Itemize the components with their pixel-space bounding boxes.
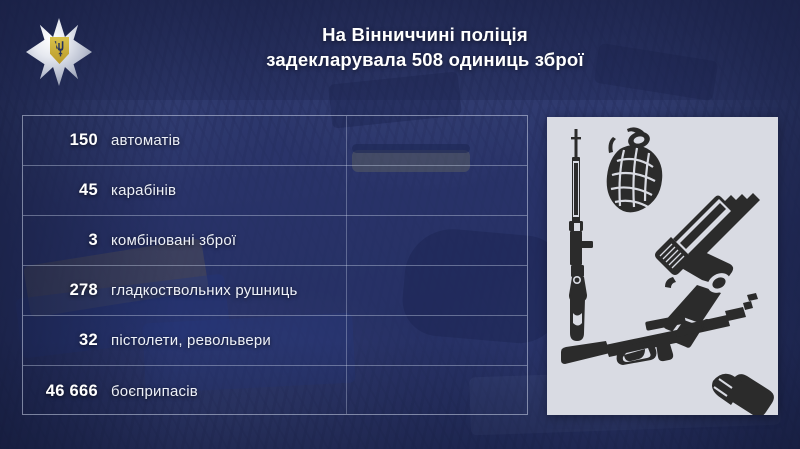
stat-value: 32 [23,331,111,350]
title-line-1: На Вінниччині поліція [160,22,690,47]
title-line-2: задекларувала 508 одиниць зброї [160,47,690,72]
stat-label: пістолети, револьвери [111,332,271,349]
stat-value: 3 [23,231,111,250]
stat-value: 45 [23,181,111,200]
stat-value: 46 666 [23,382,111,401]
stat-value: 278 [23,281,111,300]
table-row: 150 автоматів [23,116,527,166]
table-row: 46 666 боєприпасів [23,366,527,416]
rifle-icon [569,129,593,341]
police-emblem-icon [26,18,92,86]
stat-label: карабінів [111,182,176,199]
infographic-poster: На Вінниччині поліція задекларувала 508 … [0,0,800,449]
stat-label: комбіновані зброї [111,232,236,249]
tryzub-icon [54,40,65,57]
stat-value: 150 [23,131,111,150]
table-row: 45 карабінів [23,166,527,216]
stat-label: гладкоствольних рушниць [111,282,298,299]
weapons-illustration-panel [547,117,778,415]
weapons-stats-table: 150 автоматів 45 карабінів 3 комбіновані… [22,115,528,415]
page-title: На Вінниччині поліція задекларувала 508 … [160,22,690,72]
table-row: 3 комбіновані зброї [23,216,527,266]
assault-rifle-icon [561,293,758,365]
grenade-icon [607,127,663,212]
bullet-icon [711,374,774,415]
stat-label: автоматів [111,132,180,149]
table-row: 278 гладкоствольних рушниць [23,266,527,316]
table-row: 32 пістолети, револьвери [23,316,527,366]
stat-label: боєприпасів [111,383,198,400]
